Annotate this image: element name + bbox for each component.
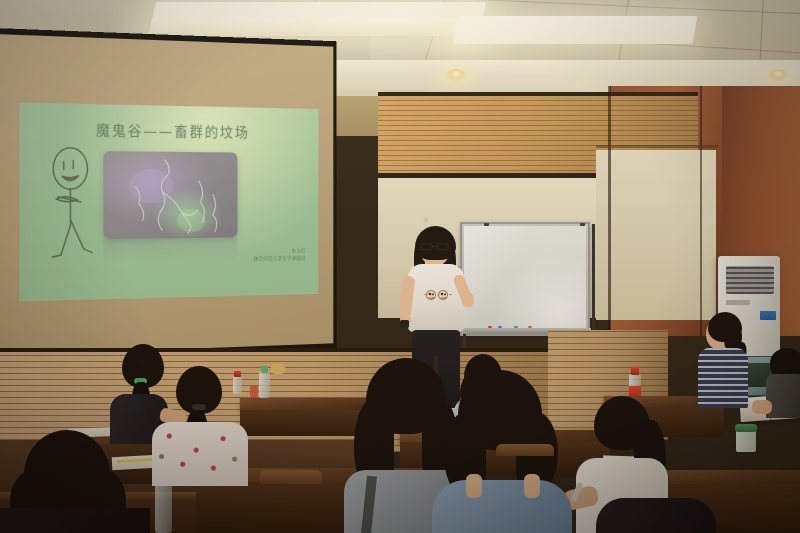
bottle-label bbox=[629, 386, 641, 396]
whiteboard-marker[interactable] bbox=[528, 326, 532, 328]
student-plaid-shirt bbox=[698, 348, 748, 408]
recessed-panel-light bbox=[148, 2, 486, 36]
student-reading-book bbox=[764, 348, 800, 418]
desk-item bbox=[271, 364, 285, 374]
white-bottle-green-cap[interactable] bbox=[259, 372, 270, 398]
projection-screen[interactable]: 魔鬼谷——畜群的坟场 bbox=[0, 28, 337, 362]
water-bottle-clear[interactable] bbox=[155, 478, 172, 533]
recessed-panel-light bbox=[453, 16, 698, 44]
student-hand bbox=[752, 400, 772, 414]
whiteboard-marker[interactable] bbox=[514, 326, 518, 328]
slide-photo-lightning bbox=[103, 151, 237, 239]
shirt-graphic-print bbox=[424, 288, 452, 302]
downlight bbox=[446, 69, 466, 81]
chair-back bbox=[496, 444, 554, 456]
stick-figure-drawing bbox=[39, 145, 102, 264]
ac-brand-label bbox=[726, 300, 750, 305]
column-seam bbox=[700, 86, 702, 336]
downlight bbox=[768, 69, 788, 81]
ac-vent-grille bbox=[726, 266, 774, 294]
bottle-cap-green bbox=[261, 366, 268, 373]
student-dark-foreground bbox=[0, 400, 150, 533]
bottle-cap-red bbox=[631, 367, 639, 375]
whiteboard-clip bbox=[484, 223, 489, 226]
screen-surface: 魔鬼谷——畜群的坟场 bbox=[0, 34, 333, 356]
student-tank-top bbox=[432, 480, 572, 533]
textured-wall-right bbox=[596, 150, 716, 320]
slide-title: 魔鬼谷——畜群的坟场 bbox=[19, 118, 318, 143]
chair-back bbox=[260, 470, 322, 484]
projected-slide: 魔鬼谷——畜群的坟场 bbox=[19, 103, 318, 302]
slide-credit-affiliation: 陕西师范大学化学卓越班 bbox=[161, 255, 306, 265]
student-floral-top bbox=[152, 422, 248, 486]
mug-lid-green bbox=[735, 424, 757, 432]
column-seam bbox=[608, 86, 611, 336]
wall-seam bbox=[596, 145, 718, 148]
glasses-icon bbox=[420, 243, 450, 250]
ac-energy-badge bbox=[760, 311, 776, 320]
student-top bbox=[766, 374, 800, 418]
student-floral-blouse bbox=[152, 366, 252, 486]
student-shoulder bbox=[466, 474, 482, 498]
foreground-shoulder bbox=[596, 498, 716, 533]
slide-credit: 朱玉红 陕西师范大学化学卓越班 bbox=[161, 248, 306, 265]
whiteboard-side-rail bbox=[592, 224, 595, 336]
student-top bbox=[0, 508, 150, 533]
classroom-presentation-photo: 魔鬼谷——畜群的坟场 bbox=[0, 0, 800, 533]
whiteboard-marker[interactable] bbox=[488, 326, 492, 328]
student-plaid-top bbox=[694, 316, 756, 412]
student-shoulder bbox=[524, 474, 540, 498]
whiteboard-marker[interactable] bbox=[498, 326, 502, 328]
presenter-hand-right-gesturing bbox=[462, 292, 474, 307]
whiteboard-clip bbox=[580, 223, 585, 226]
presentation-clicker[interactable] bbox=[400, 320, 409, 328]
